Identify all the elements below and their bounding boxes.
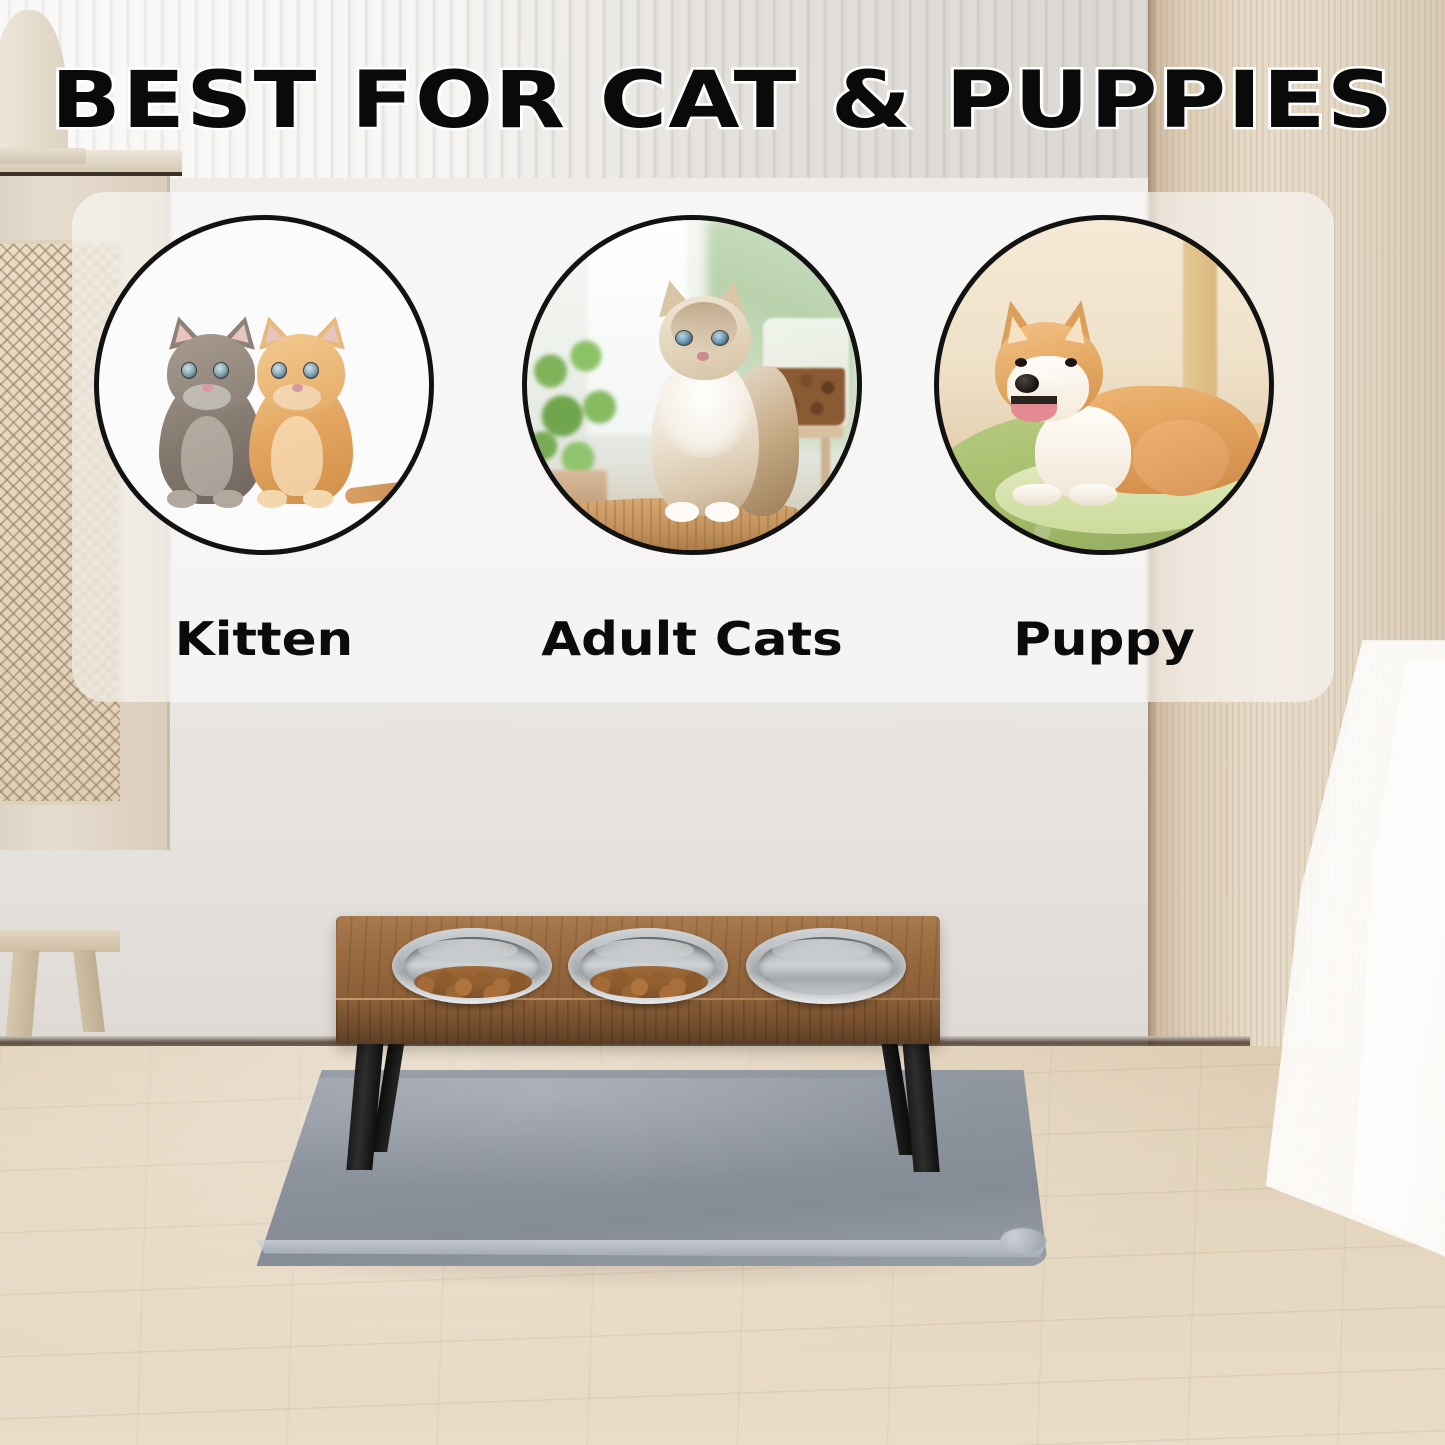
kitten-photo-circle (94, 215, 434, 555)
kitten-paw-right (213, 490, 243, 508)
kitten-paw-right (303, 490, 333, 508)
dog-open-mouth (1011, 396, 1057, 422)
puppy-photo-circle (934, 215, 1274, 555)
stainless-bowl-left (392, 928, 552, 1004)
pet-type-card-kitten[interactable] (94, 215, 434, 555)
kitten-nose (202, 384, 213, 392)
pet-type-label-row: Kitten Adult Cats Puppy (72, 612, 1334, 696)
stainless-bowl-right (746, 928, 906, 1004)
kitten-eye-left (181, 362, 197, 379)
kitten-chest (181, 416, 233, 496)
kitten-paw-left (167, 490, 197, 508)
bowl-rim-highlight (594, 939, 694, 961)
page-title: BEST FOR CAT & PUPPIES (0, 56, 1445, 146)
kitten-eye-right (213, 362, 229, 379)
pet-type-card-adult-cats[interactable] (522, 215, 862, 555)
bowl-rim-highlight (772, 939, 872, 961)
cat-eye-right (711, 330, 729, 346)
mat-corner-nub (1000, 1228, 1046, 1254)
cat-eye-left (675, 330, 693, 346)
cat-front-paw-right (705, 502, 739, 522)
kitten-chest (271, 416, 323, 496)
kitten-nose (292, 384, 303, 392)
label-puppy: Puppy (914, 612, 1295, 666)
label-kitten: Kitten (74, 612, 455, 666)
label-adult-cats: Adult Cats (502, 612, 883, 666)
orange-kitten-illustration (241, 314, 361, 504)
adult-cat-illustration (627, 286, 783, 516)
bowl-rim-highlight (418, 939, 518, 961)
shiba-inu-illustration (973, 304, 1263, 494)
kibble-food-left (414, 966, 532, 998)
cat-front-paw-left (665, 502, 699, 522)
dog-paw-front-left (1013, 484, 1061, 506)
dog-eye-left (1015, 358, 1027, 367)
green-houseplant (529, 338, 627, 488)
stainless-bowl-center (568, 928, 728, 1004)
kibble-food-center (590, 966, 708, 998)
kitten-paw-left (257, 490, 287, 508)
cat-nose (697, 352, 709, 361)
kitten-tail (344, 479, 423, 504)
dog-nose (1015, 374, 1039, 393)
pet-type-circle-row (72, 215, 1334, 585)
dog-paw-front-right (1069, 484, 1117, 506)
dog-hind-leg (1133, 420, 1229, 496)
adult-cat-photo-circle (522, 215, 862, 555)
pet-type-card-puppy[interactable] (934, 215, 1274, 555)
product-marketing-image: BEST FOR CAT & PUPPIES (0, 0, 1445, 1445)
kitten-eye-left (271, 362, 287, 379)
dog-eye-right (1065, 358, 1077, 367)
cat-forehead-markings (671, 302, 737, 354)
kitten-eye-right (303, 362, 319, 379)
